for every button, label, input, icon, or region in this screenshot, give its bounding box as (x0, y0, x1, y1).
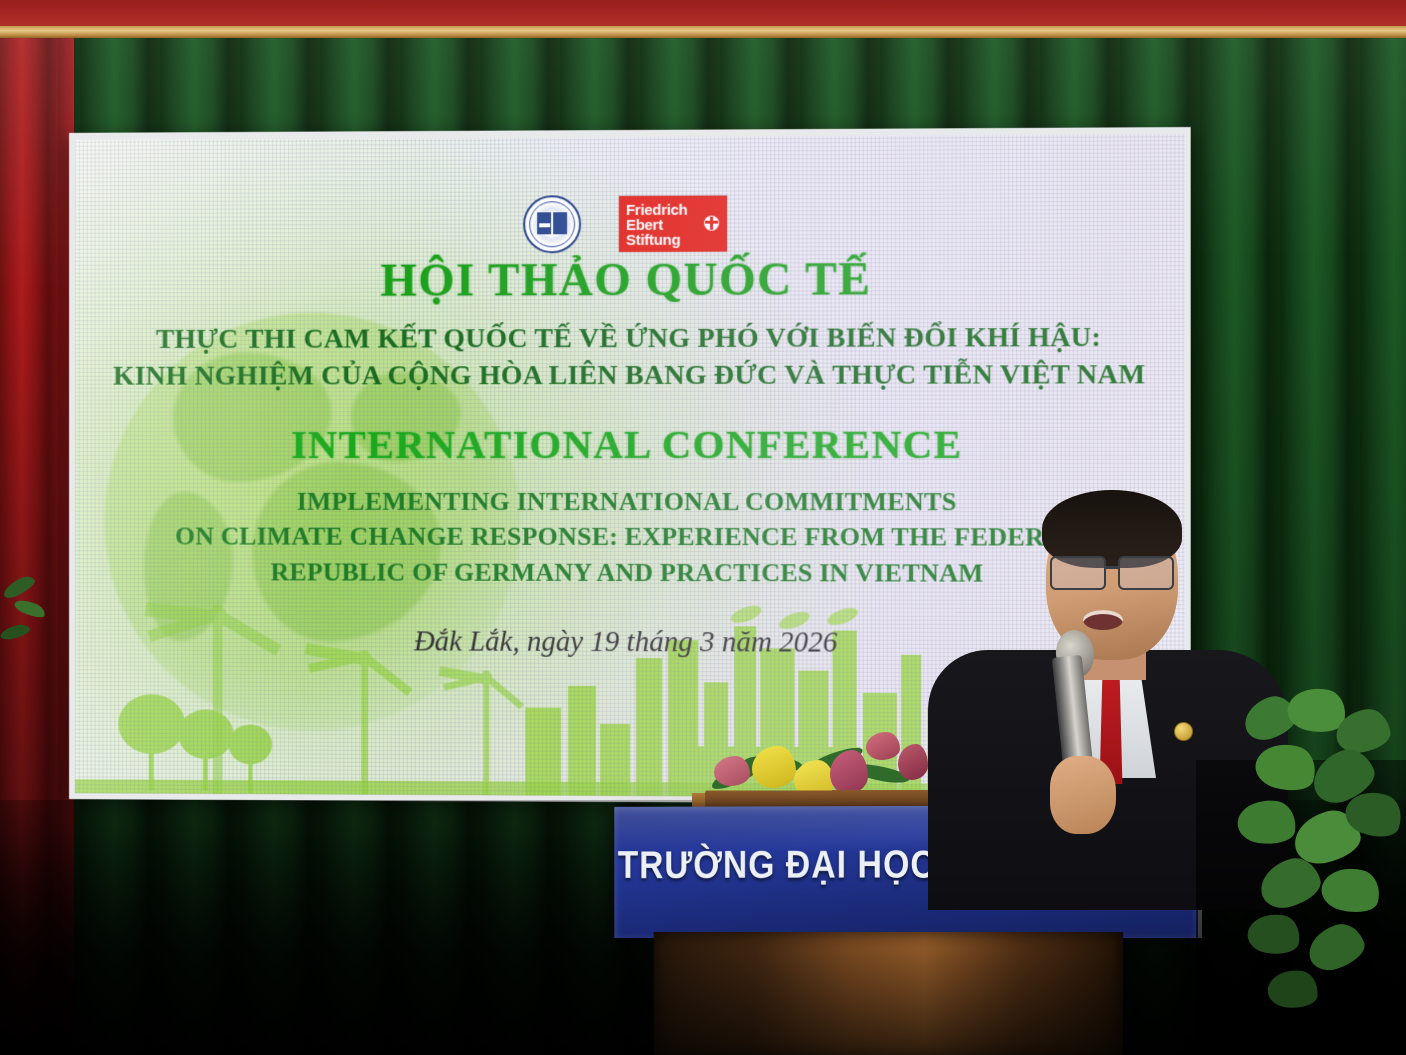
fes-line1: Friedrich (626, 203, 688, 218)
speaker-hand (1050, 756, 1116, 834)
fes-line3: Stiftung (626, 233, 680, 248)
potted-plant-right (1238, 688, 1406, 1055)
friedrich-ebert-stiftung-logo: Friedrich Ebert Stiftung (619, 196, 727, 252)
slide-heading-vietnamese: HỘI THẢO QUỐC TẾ (75, 255, 1185, 306)
speaker-glasses (1048, 556, 1176, 586)
conference-photo-scene: Friedrich Ebert Stiftung HỘI THẢO QUỐC T… (0, 0, 1406, 1055)
fes-line2: Ebert (626, 218, 663, 233)
slide-logos: Friedrich Ebert Stiftung (75, 193, 1185, 255)
fes-emblem-icon (704, 216, 719, 231)
speaker-lapel-pin (1174, 722, 1193, 741)
slide-heading-english: INTERNATIONAL CONFERENCE (75, 423, 1185, 466)
speaker-mouth (1083, 610, 1123, 630)
slide-subtitle-vietnamese-line1: THỰC THI CAM KẾT QUỐC TẾ VỀ ỨNG PHÓ VỚI … (75, 320, 1185, 357)
hanoi-law-university-logo-icon (523, 195, 581, 253)
slide-subtitle-vietnamese-line2: KINH NGHIỆM CỦA CỘNG HÒA LIÊN BANG ĐỨC V… (75, 357, 1185, 394)
potted-plant-left-edge (0, 580, 70, 720)
podium-wood-base (654, 932, 1123, 1055)
